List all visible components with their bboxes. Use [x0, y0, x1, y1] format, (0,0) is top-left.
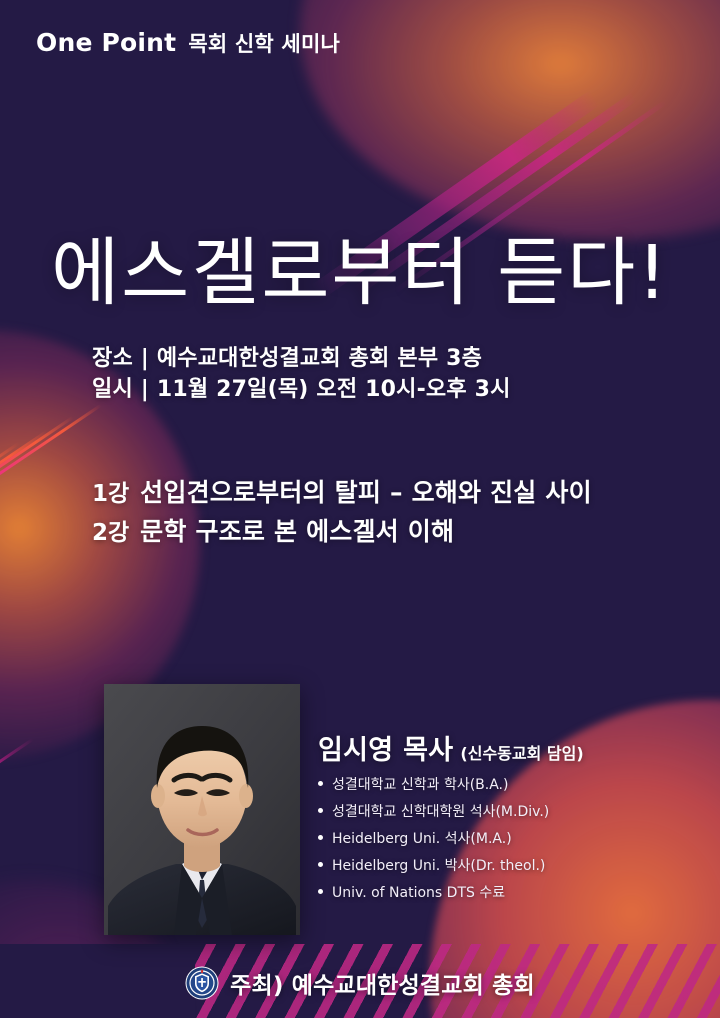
footer-organizer-text: 주최) 예수교대한성결교회 총회 — [230, 966, 535, 1000]
credential-item: 성결대학교 신학과 학사(B.A.) — [318, 778, 584, 792]
credential-text: Heidelberg Uni. 석사(M.A.) — [332, 832, 512, 846]
lecture-number: 1강 — [92, 477, 129, 513]
lecture-item: 1강 선입견으로부터의 탈피 – 오해와 진실 사이 — [92, 474, 592, 513]
lecture-title: 선입견으로부터의 탈피 – 오해와 진실 사이 — [140, 474, 592, 513]
decorative-stripe — [0, 750, 4, 890]
credential-item: Heidelberg Uni. 박사(Dr. theol.) — [318, 859, 584, 873]
poster-header: One Point 목회 신학 세미나 — [36, 28, 340, 58]
speaker-photo — [104, 684, 300, 935]
credential-item: Univ. of Nations DTS 수료 — [318, 886, 584, 900]
credential-text: 성결대학교 신학대학원 석사(M.Div.) — [332, 805, 549, 819]
bullet-icon — [318, 808, 323, 813]
lecture-title: 문학 구조로 본 에스겔서 이해 — [140, 513, 454, 552]
lecture-item: 2강 문학 구조로 본 에스겔서 이해 — [92, 513, 592, 552]
credential-text: 성결대학교 신학과 학사(B.A.) — [332, 778, 508, 792]
lecture-list: 1강 선입견으로부터의 탈피 – 오해와 진실 사이 2강 문학 구조로 본 에… — [92, 474, 592, 552]
venue-line: 장소 | 예수교대한성결교회 총회 본부 3층 — [92, 343, 511, 374]
speaker-portrait-illustration — [104, 684, 300, 935]
church-emblem-icon — [185, 966, 219, 1000]
decorative-stripe — [0, 416, 74, 558]
bullet-icon — [318, 889, 323, 894]
credential-item: Heidelberg Uni. 석사(M.A.) — [318, 832, 584, 846]
event-info: 장소 | 예수교대한성결교회 총회 본부 3층 일시 | 11월 27일(목) … — [92, 343, 511, 405]
poster-footer: 주최) 예수교대한성결교회 총회 — [0, 966, 720, 1000]
speaker-name: 임시영 목사 — [318, 728, 453, 767]
bullet-icon — [318, 835, 323, 840]
decorative-stripe — [0, 442, 20, 584]
seminar-poster: One Point 목회 신학 세미나 에스겔로부터 듣다! 장소 | 예수교대… — [0, 0, 720, 1018]
datetime-line: 일시 | 11월 27일(목) 오전 10시-오후 3시 — [92, 374, 511, 405]
speaker-role: (신수동교회 담임) — [460, 740, 583, 764]
decorative-stripe — [0, 430, 48, 572]
church-emblem-graphic — [185, 966, 219, 1000]
brand-name: One Point — [36, 28, 176, 57]
decorative-stripes-top-left — [80, 0, 320, 170]
bullet-icon — [318, 781, 323, 786]
lecture-number: 2강 — [92, 516, 129, 552]
speaker-name-row: 임시영 목사 (신수동교회 담임) — [318, 728, 584, 767]
header-subtitle: 목회 신학 세미나 — [188, 28, 340, 58]
bullet-icon — [318, 862, 323, 867]
speaker-credentials: 성결대학교 신학과 학사(B.A.) 성결대학교 신학대학원 석사(M.Div.… — [318, 778, 584, 900]
decorative-stripe — [0, 404, 102, 546]
credential-text: Univ. of Nations DTS 수료 — [332, 886, 505, 900]
speaker-info: 임시영 목사 (신수동교회 담임) 성결대학교 신학과 학사(B.A.) 성결대… — [318, 728, 584, 913]
page-title: 에스겔로부터 듣다! — [0, 236, 720, 311]
credential-text: Heidelberg Uni. 박사(Dr. theol.) — [332, 859, 545, 873]
credential-item: 성결대학교 신학대학원 석사(M.Div.) — [318, 805, 584, 819]
